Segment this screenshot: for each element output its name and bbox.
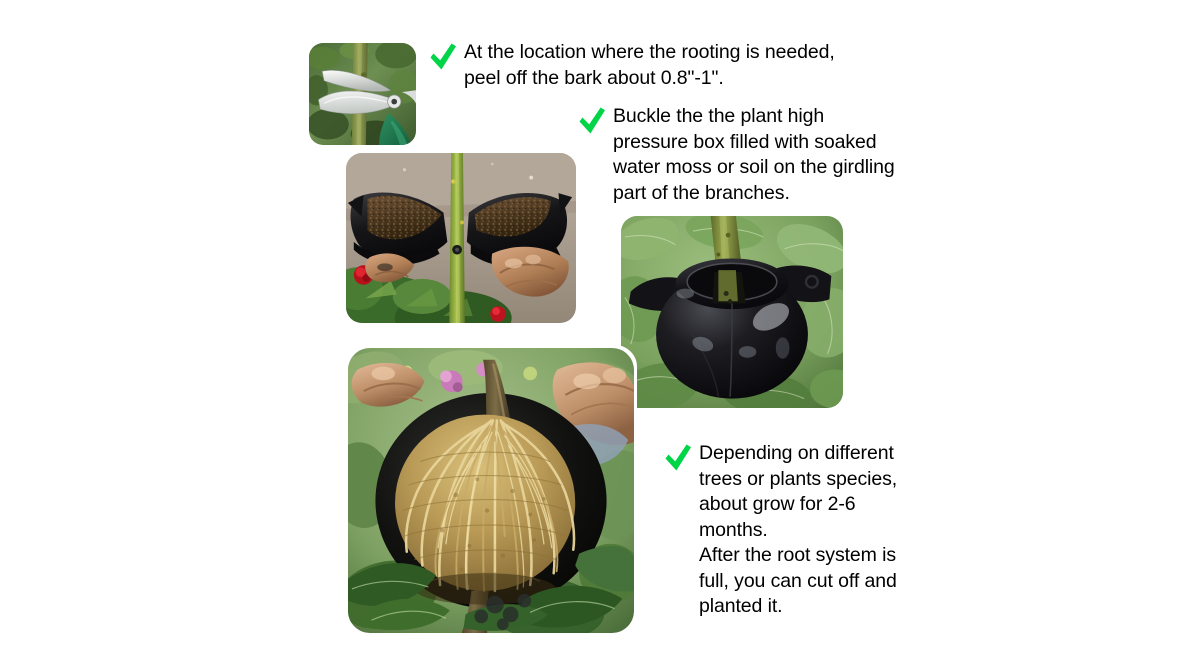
step-3-caption: Depending on different trees or plants s…	[663, 441, 933, 620]
step-2-text: Buckle the the plant high pressure box f…	[613, 104, 895, 206]
step-1-caption: At the location where the rooting is nee…	[428, 40, 898, 91]
step-2-caption: Buckle the the plant high pressure box f…	[577, 104, 917, 206]
instruction-infographic: At the location where the rooting is nee…	[0, 0, 1200, 670]
green-check-icon	[577, 105, 607, 137]
root-mass-photo	[345, 345, 637, 636]
open-rooting-ball-photo	[343, 150, 579, 326]
pruning-shears-photo	[306, 40, 419, 148]
closed-rooting-ball-photo	[618, 213, 846, 411]
green-check-icon	[663, 442, 693, 474]
step-1-text: At the location where the rooting is nee…	[464, 40, 835, 91]
green-check-icon	[428, 41, 458, 73]
step-3-text: Depending on different trees or plants s…	[699, 441, 897, 620]
